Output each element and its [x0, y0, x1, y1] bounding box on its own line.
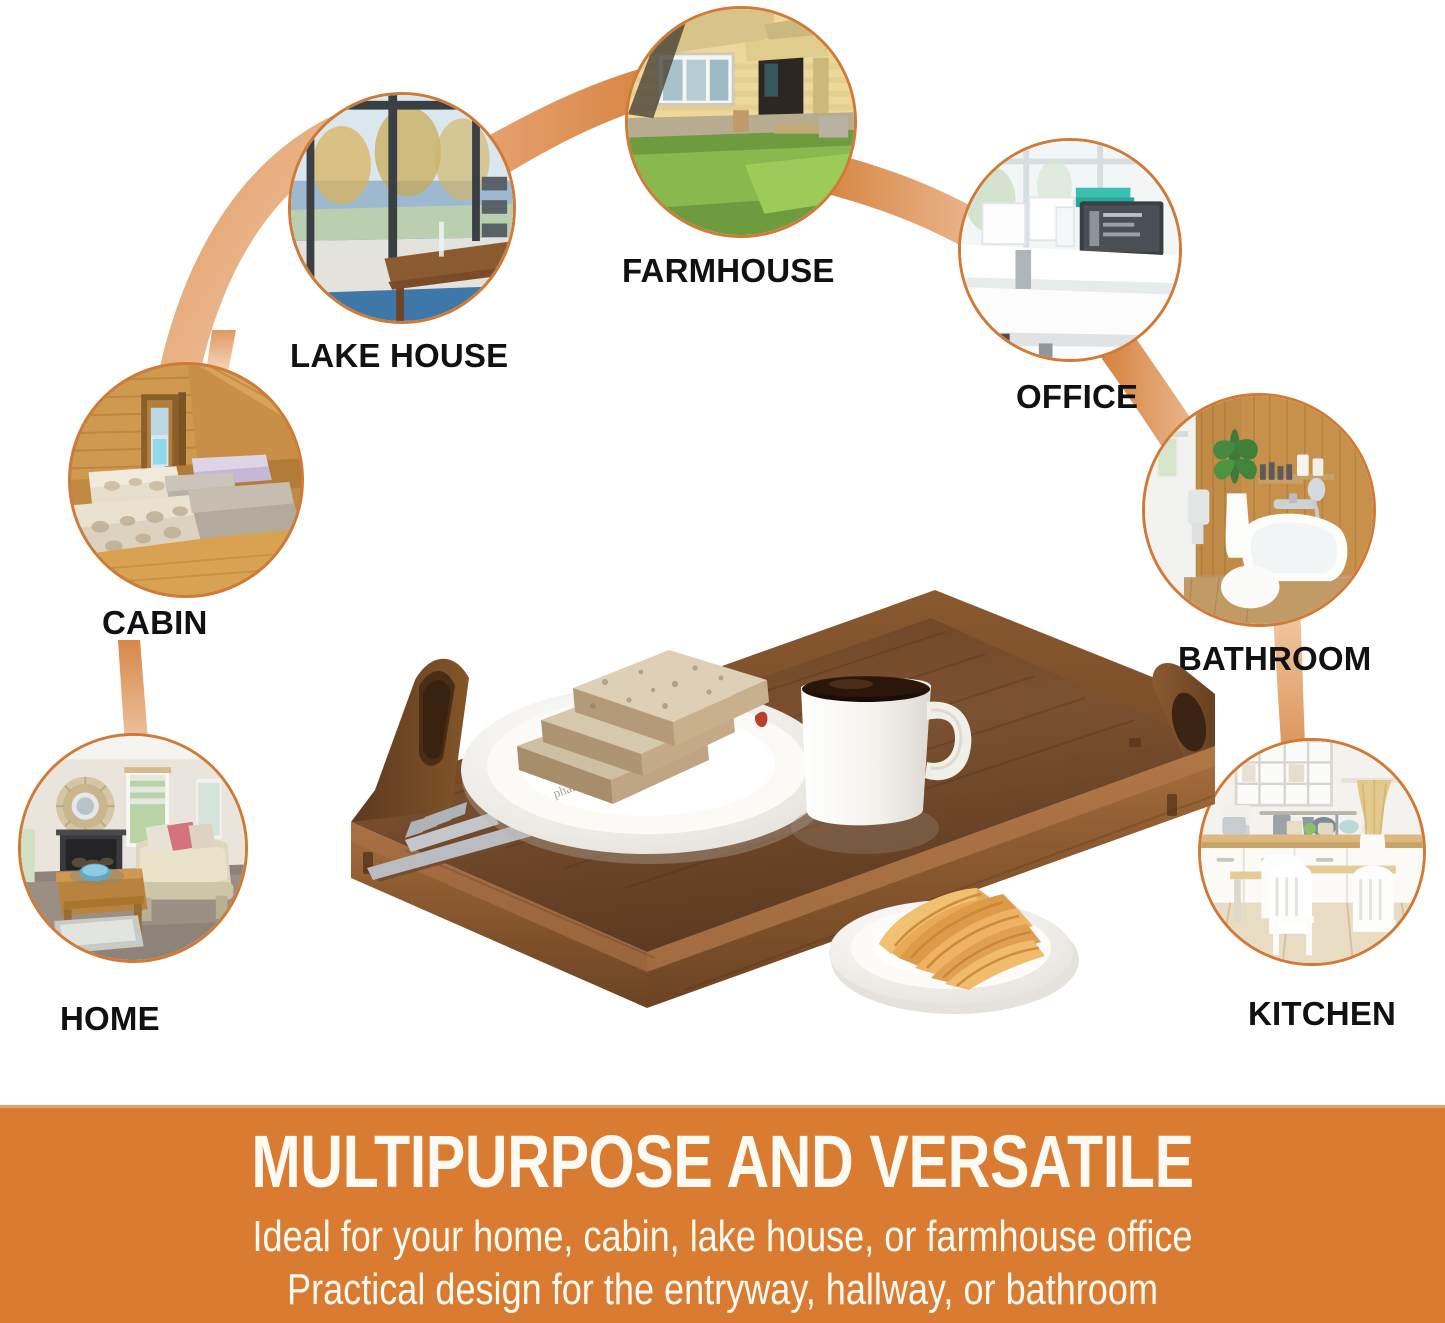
use-case-label-home: HOME: [60, 1000, 160, 1038]
use-case-label-kitchen: KITCHEN: [1248, 995, 1396, 1033]
use-case-circle-lake-house[interactable]: [288, 92, 516, 324]
lake-house-photo: [291, 95, 513, 321]
office-photo: [961, 141, 1179, 359]
banner-subline-1: Ideal for your home, cabin, lake house, …: [130, 1197, 1315, 1264]
use-case-label-lake-house: LAKE HOUSE: [290, 337, 508, 375]
product-feature-infographic: LAKE HOUSE: [0, 0, 1445, 1323]
product-photo-serving-tray: phanna: [255, 560, 1215, 1090]
use-case-label-office: OFFICE: [1016, 378, 1138, 416]
banner-subline-2: Practical design for the entryway, hallw…: [130, 1264, 1315, 1317]
banner-headline: MULTIPURPOSE AND VERSATILE: [145, 1108, 1301, 1197]
use-case-circle-kitchen[interactable]: [1198, 738, 1426, 966]
use-case-circle-office[interactable]: [958, 138, 1182, 362]
use-case-circle-farmhouse[interactable]: [625, 6, 857, 238]
use-case-label-cabin: CABIN: [102, 604, 208, 642]
home-photo: [21, 736, 245, 960]
use-case-circle-home[interactable]: [18, 733, 248, 963]
farmhouse-photo: [628, 9, 854, 235]
bottom-banner: MULTIPURPOSE AND VERSATILE Ideal for you…: [0, 1105, 1445, 1323]
serving-tray-illustration: phanna: [255, 560, 1215, 1090]
kitchen-photo: [1201, 741, 1423, 963]
use-case-label-farmhouse: FARMHOUSE: [622, 252, 835, 290]
